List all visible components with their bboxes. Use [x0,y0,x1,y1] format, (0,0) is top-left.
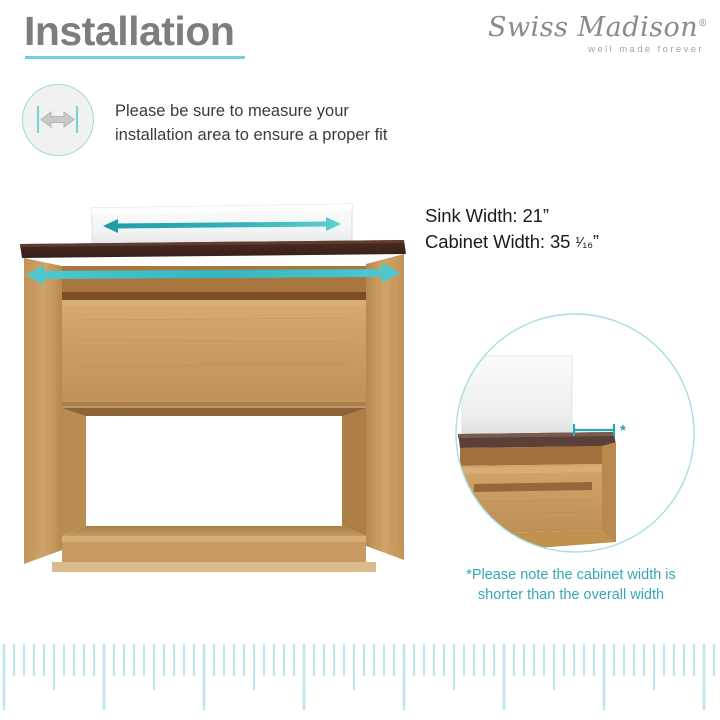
detail-inset: * [454,312,696,554]
measure-note: Please be sure to measure your installat… [115,100,445,148]
vanity-illustration [0,180,430,600]
page-title: Installation [24,8,234,55]
cabinet-width-line: Cabinet Width: 35 ¹⁄₁₆” [425,229,599,255]
cabinet-width-footnote: *Please note the cabinet width is shorte… [446,566,696,605]
installation-page: Installation Swiss Madison® well made fo… [0,0,720,720]
footnote-line2: shorter than the overall width [446,586,696,606]
measure-note-line2: installation area to ensure a proper fit [115,124,445,148]
footnote-line1: *Please note the cabinet width is [446,566,696,586]
sink-width-line: Sink Width: 21” [425,203,599,229]
ruler-decoration [0,630,720,720]
cabinet-body [24,254,404,572]
double-arrow-icon [23,85,92,154]
dimension-list: Sink Width: 21” Cabinet Width: 35 ¹⁄₁₆” [425,203,599,256]
brand-name: Swiss Madison® [488,14,706,41]
measure-note-line1: Please be sure to measure your [115,100,445,124]
brand-tagline: well made forever [488,44,704,55]
countertop [20,240,406,258]
inset-artwork [458,356,616,554]
brand-logo: Swiss Madison® well made forever [488,14,706,55]
inset-asterisk-marker: * [620,422,626,439]
registered-mark: ® [698,19,708,29]
title-underline [25,56,245,59]
measure-badge [22,84,94,156]
